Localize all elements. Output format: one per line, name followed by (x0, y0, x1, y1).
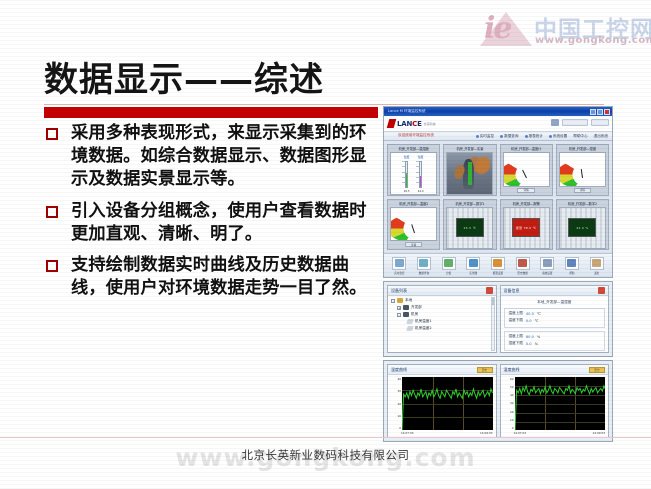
chart-header: 湿度曲线 历史 (501, 365, 609, 375)
menu-item-realtime[interactable]: 实时监控 (476, 134, 494, 139)
gauge-detail-button[interactable]: 详情 (574, 188, 591, 193)
toolbar-button-history[interactable]: 历史数据 (513, 257, 533, 275)
device-icon (403, 305, 409, 310)
field-unit: ℃ (537, 312, 541, 316)
arc-gauge-icon (506, 160, 546, 181)
slide-title: 数据显示——综述 (44, 52, 324, 101)
footer-divider (0, 437, 651, 438)
chart-history-button[interactable]: 历史 (589, 367, 605, 373)
y-tick: 10 (510, 418, 514, 422)
expander-icon[interactable]: + (397, 306, 401, 310)
chart-header: 温度曲线 历史 (388, 365, 496, 375)
logout-pill[interactable] (591, 119, 609, 126)
gauge-card[interactable]: 机房_开发部—湿度 详情 (556, 144, 609, 196)
gauge-card[interactable]: 机房_开发部—数字2 44.0 % (556, 199, 609, 251)
y-tick: 10 (397, 414, 401, 418)
toolbar-button-scene[interactable]: 实景图 (463, 257, 483, 275)
chart-plot-area: 60 50 40 30 20 10 0 (501, 375, 609, 431)
x-tick-end: 14:09:03 (592, 431, 605, 435)
gauge-body (446, 152, 493, 195)
title-underline-bar (44, 107, 378, 118)
menu-bullet-icon (476, 135, 479, 138)
app-menubar[interactable]: 欢迎使用环境监控系统 实时监控 数据查询 报表统计 系统设置 帮助中心 退出系统 (384, 132, 612, 141)
gauge-detail-button[interactable]: 详情 (405, 242, 422, 247)
temp-lower-row: 温度下限 0.0 ℃ (509, 318, 601, 323)
y-tick: 50 (510, 385, 514, 389)
chart-history-button[interactable]: 历史 (477, 367, 493, 373)
menu-label: 系统设置 (553, 134, 567, 139)
app-window-devices: 设备列表 - 本地 + 开发部 - (383, 281, 613, 357)
humidity-lower-row: 湿度下限 0.0 % (509, 341, 601, 346)
temperature-limits-group: 温度上限 40.0 ℃ 温度下限 0.0 ℃ (504, 308, 606, 328)
thermo-tube (405, 161, 408, 188)
gauge-body (503, 152, 550, 187)
toolbar-label: 报警设置 (493, 271, 503, 275)
menu-item-report[interactable]: 报表统计 (525, 134, 543, 139)
menu-item-exit[interactable]: 退出系统 (594, 134, 608, 139)
gauge-card[interactable]: 机房_开发部—温度2 详情 (387, 199, 440, 251)
field-label: 温度下限 (509, 318, 523, 323)
y-tick: 20 (510, 410, 514, 414)
y-tick: 0 (512, 426, 514, 430)
y-tick: 30 (510, 401, 514, 405)
x-tick-start: 14:07:03 (514, 431, 527, 435)
gauge-body: 26.5 ℃ (446, 207, 493, 250)
bullet-text: 支持绘制数据实时曲线及历史数据曲线，使用户对环境数据走势一目了然。 (71, 254, 376, 300)
bullet-text: 引入设备分组概念，使用户查看数据时更加直观、清晰、明了。 (71, 200, 376, 246)
exit-icon (590, 257, 604, 270)
tree-node-dev-dept[interactable]: + 开发部 (397, 305, 493, 310)
user-icon[interactable] (551, 119, 559, 126)
vertical-scrollbar[interactable] (491, 297, 495, 351)
lcd-value: 报警 38.0 ℃ (512, 218, 540, 237)
gauge-card[interactable]: 机房_开发部—温度计 详情 (500, 144, 553, 196)
thermo-tube (419, 161, 422, 188)
window-controls[interactable] (590, 109, 611, 115)
toolbar-button-alarm[interactable]: 报警设置 (488, 257, 508, 275)
photo-blob (476, 157, 490, 174)
gauge-title: 机房_开发部—数字1 (455, 201, 484, 206)
field-label: 湿度上限 (509, 334, 523, 339)
toolbar-button-help[interactable]: 帮助 (562, 257, 582, 275)
toolbar-label: 退出 (594, 271, 599, 275)
field-value[interactable]: 80.0 (526, 335, 534, 339)
lcd-value: 26.5 ℃ (456, 218, 484, 237)
live-photo-image (447, 153, 492, 194)
gauge-grid: 机房_开发部—温湿度 温度 26.5 湿度 44. (384, 141, 612, 253)
toolbar-label: 数据查询 (419, 271, 429, 275)
humidity-upper-row: 湿度上限 80.0 % (509, 334, 601, 339)
temperature-series (402, 377, 493, 430)
toolbar-label: 实景图 (469, 271, 477, 275)
brand-bar-right (551, 119, 609, 126)
humidity-plot (515, 377, 606, 430)
gauge-detail-button[interactable]: 详情 (517, 188, 534, 193)
footer-company: 北京长英新业数码科技有限公司 (0, 447, 651, 463)
bullet-text: 采用多种表现形式，来显示采集到的环境数据。如综合数据显示、数据图形显示及数据实景… (71, 122, 376, 191)
menu-item-help[interactable]: 帮助中心 (573, 134, 587, 139)
y-tick: 60 (510, 377, 514, 381)
logo-url: www.gongkong.com (535, 35, 651, 46)
gauge-body: 温度 26.5 湿度 44.0 (390, 152, 437, 195)
device-tree[interactable]: - 本地 + 开发部 - 机房 (391, 298, 493, 331)
menu-item-settings[interactable]: 系统设置 (549, 134, 567, 139)
menubar-welcome: 欢迎使用环境监控系统 (398, 133, 434, 138)
screenshot-column: Lance M 环境监控系统 LANCE 长英科技 欢迎使用环境监控系统 实时监… (383, 106, 613, 442)
title-hairline (44, 104, 604, 105)
gauge-card[interactable]: 机房_开发部—报警 报警 38.0 ℃ (500, 199, 553, 251)
thermo-fill (420, 176, 421, 187)
y-tick: 0 (399, 426, 401, 430)
maximize-icon[interactable] (597, 109, 603, 115)
y-tick: 20 (397, 402, 401, 406)
help-icon (565, 257, 579, 270)
x-tick-end: 14:09:03 (480, 431, 493, 435)
toolbar-label: 分组 (446, 271, 451, 275)
y-axis-ticks: 40 30 20 10 0 (391, 377, 402, 430)
toolbar-button-group[interactable]: 分组 (439, 257, 459, 275)
temperature-plot (402, 377, 493, 430)
thermo-fill (406, 173, 407, 186)
device-subject: 本地_开发部—温湿度 (504, 300, 606, 305)
humidity-limits-group: 湿度上限 80.0 % 湿度下限 0.0 % (504, 331, 606, 351)
panel-title: 设备信息 (504, 288, 520, 294)
gauge-title: 机房_开发部—实景 (456, 146, 483, 151)
gauge-body (390, 207, 437, 242)
tree-node-label: 机房温度1 (415, 319, 432, 324)
tree-node-label: 机房 (411, 312, 418, 317)
humidity-chart-card: 湿度曲线 历史 60 50 40 30 20 10 0 (500, 364, 610, 438)
thermometer-pair-icon: 温度 26.5 湿度 44.0 (391, 153, 436, 194)
bullet-square-icon (46, 128, 58, 140)
tree-node-label: 本地 (405, 298, 412, 303)
minimize-icon[interactable] (590, 109, 596, 115)
gear-icon (540, 257, 554, 270)
chart-title: 温度曲线 (391, 367, 407, 373)
brand-name: LANCE (397, 120, 422, 128)
y-axis-ticks: 60 50 40 30 20 10 0 (504, 377, 515, 430)
thermo-label: 湿度 (416, 155, 425, 159)
app-brand-bar: LANCE 长英科技 (384, 116, 612, 132)
brand-name-left: LAN (397, 120, 412, 128)
tree-node-sensor-2[interactable]: 机房温度2 (407, 326, 493, 331)
toolbar-label: 帮助 (569, 271, 574, 275)
gongkong-logo: ie 中国工控网 www.gongkong.com (478, 8, 646, 52)
digital-readout: 44.0 % (560, 208, 605, 249)
field-unit: % (537, 335, 540, 339)
gauge-title: 机房_开发部—温湿度 (399, 146, 429, 151)
gauge-card[interactable]: 机房_开发部—数字1 26.5 ℃ (443, 199, 496, 251)
device-icon (403, 312, 409, 317)
bullet-list: 采用多种表现形式，来显示采集到的环境数据。如综合数据显示、数据图形显示及数据实景… (46, 122, 376, 309)
field-value[interactable]: 0.0 (526, 319, 532, 323)
temperature-chart-card: 温度曲线 历史 40 30 20 10 0 (387, 364, 497, 438)
brand-mark-icon (387, 119, 397, 128)
sensor-icon (406, 319, 414, 324)
list-item: 支持绘制数据实时曲线及历史数据曲线，使用户对环境数据走势一目了然。 (46, 254, 376, 300)
list-item: 采用多种表现形式，来显示采集到的环境数据。如综合数据显示、数据图形显示及数据实景… (46, 122, 376, 191)
toolbar-button-realtime[interactable]: 实时监控 (389, 257, 409, 275)
bell-icon (491, 257, 505, 270)
gauge-card[interactable]: 机房_开发部—温湿度 温度 26.5 湿度 44. (387, 144, 440, 196)
toolbar-button-settings[interactable]: 系统设置 (537, 257, 557, 275)
brand-name-right: E (417, 120, 422, 128)
close-icon[interactable] (604, 109, 610, 115)
menu-bullet-icon (500, 135, 503, 138)
gauge-title: 机房_开发部—湿度 (569, 146, 596, 151)
bullet-square-icon (46, 206, 58, 218)
tree-node-label: 开发部 (411, 305, 422, 310)
panel-header: 设备信息 (501, 286, 609, 296)
report-icon (516, 257, 530, 270)
thermometer-humidity: 湿度 44.0 (416, 156, 425, 192)
arc-gauge-icon (394, 214, 434, 235)
toolbar-button-query[interactable]: 数据查询 (414, 257, 434, 275)
bullet-square-icon (46, 260, 58, 272)
list-item: 引入设备分组概念，使用户查看数据时更加直观、清晰、明了。 (46, 200, 376, 246)
field-label: 湿度下限 (509, 341, 523, 346)
window-titlebar: Lance M 环境监控系统 (384, 107, 612, 116)
scrollbar-thumb[interactable] (492, 298, 494, 305)
expander-icon[interactable]: - (397, 313, 401, 317)
tree-node-sensor-1[interactable]: 机房温度1 (407, 319, 493, 324)
photo-bar (468, 162, 472, 185)
toolbar-button-exit[interactable]: 退出 (587, 257, 607, 275)
menu-item-query[interactable]: 数据查询 (500, 134, 518, 139)
gauge-body: 44.0 % (559, 207, 606, 250)
app-window-monitoring: Lance M 环境监控系统 LANCE 长英科技 欢迎使用环境监控系统 实时监… (383, 106, 613, 278)
database-icon (417, 257, 431, 270)
panel-header: 设备列表 (388, 286, 496, 296)
gauge-title: 机房_开发部—报警 (513, 201, 540, 206)
image-icon (466, 257, 480, 270)
y-tick: 30 (397, 389, 401, 393)
toolbar-label: 系统设置 (542, 271, 552, 275)
thermo-label: 温度 (402, 155, 411, 159)
digital-readout-alarm: 报警 38.0 ℃ (504, 208, 549, 249)
thermo-value: 26.5 (402, 190, 411, 193)
panel-body: - 本地 + 开发部 - 机房 (388, 296, 496, 352)
arc-sweep (503, 160, 550, 187)
menu-label: 实时监控 (480, 134, 494, 139)
menu-label: 报表统计 (529, 134, 543, 139)
settings-icon[interactable] (598, 287, 605, 294)
menu-bullet-icon (549, 135, 552, 138)
gauge-title: 机房_开发部—数字2 (568, 201, 597, 206)
y-tick: 40 (397, 377, 401, 381)
gauge-icon (392, 257, 406, 270)
field-unit: % (535, 342, 538, 346)
tree-node-local[interactable]: - 本地 (391, 298, 493, 303)
chart-plot-area: 40 30 20 10 0 (388, 375, 496, 431)
panel-body: 本地_开发部—温湿度 温度上限 40.0 ℃ 温度下限 0.0 ℃ (501, 296, 609, 352)
y-tick: 40 (510, 393, 514, 397)
sensor-icon (406, 326, 414, 331)
logo-ie-mark: ie (484, 11, 510, 46)
thermometer-temp: 温度 26.5 (402, 156, 411, 192)
device-list-panel: 设备列表 - 本地 + 开发部 - (387, 285, 497, 353)
temp-upper-row: 温度上限 40.0 ℃ (509, 311, 601, 316)
account-pill[interactable] (562, 119, 588, 126)
gauge-card[interactable]: 机房_开发部—实景 (443, 144, 496, 196)
gauge-title: 机房_开发部—温度计 (511, 146, 541, 151)
menu-label: 退出系统 (594, 134, 608, 139)
gauge-title: 机房_开发部—温度2 (399, 201, 428, 206)
field-label: 温度上限 (509, 311, 523, 316)
menu-bullet-icon (525, 135, 528, 138)
tree-node-label: 机房温度2 (415, 326, 432, 331)
toolbar-label: 历史数据 (517, 271, 527, 275)
menu-label: 帮助中心 (573, 134, 587, 139)
field-value[interactable]: 40.0 (526, 312, 534, 316)
tree-node-server-room[interactable]: - 机房 (397, 312, 493, 317)
chart-title: 湿度曲线 (504, 367, 520, 373)
x-tick-start: 14:07:03 (401, 431, 414, 435)
app-toolbar[interactable]: 实时监控 数据查询 分组 实景图 报警设置 历史数据 (384, 253, 612, 277)
gauge-body: 报警 38.0 ℃ (503, 207, 550, 250)
tree-icon (442, 257, 456, 270)
menu-label: 数据查询 (504, 134, 518, 139)
app-window-charts: 温度曲线 历史 40 30 20 10 0 (383, 360, 613, 442)
arc-gauge-icon (563, 160, 603, 181)
brand-name-cn: 长英科技 (424, 122, 436, 126)
expander-icon[interactable]: - (391, 299, 395, 303)
field-value[interactable]: 0.0 (526, 342, 532, 346)
digital-readout: 26.5 ℃ (447, 208, 492, 249)
gauge-body (559, 152, 606, 187)
thermo-value: 44.0 (416, 190, 425, 193)
field-unit: ℃ (535, 319, 539, 323)
device-info-panel: 设备信息 本地_开发部—温湿度 温度上限 40.0 ℃ 温度下限 0.0 ℃ (500, 285, 610, 353)
toolbar-label: 实时监控 (394, 271, 404, 275)
window-title: Lance M 环境监控系统 (385, 109, 426, 114)
panel-title: 设备列表 (391, 288, 407, 294)
refresh-icon[interactable] (486, 287, 493, 294)
humidity-series (515, 377, 606, 430)
lcd-value: 44.0 % (568, 218, 596, 237)
folder-icon (397, 298, 403, 303)
